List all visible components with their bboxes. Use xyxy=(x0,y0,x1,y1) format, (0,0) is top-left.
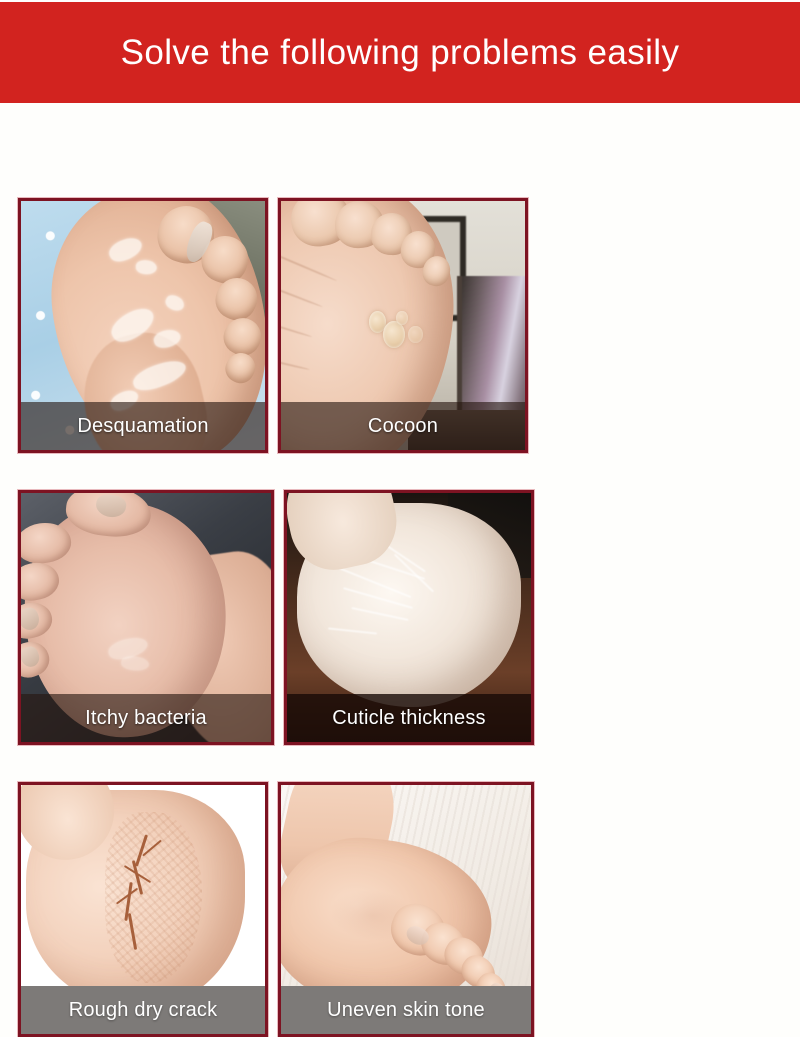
problem-caption-uneven-skin-tone: Uneven skin tone xyxy=(281,986,531,1034)
problem-card-itchy-bacteria[interactable]: Itchy bacteria xyxy=(18,490,274,745)
problem-caption-cocoon: Cocoon xyxy=(281,402,525,450)
problem-card-rough-dry-crack[interactable]: Rough dry crack xyxy=(18,782,268,1037)
problem-card-grid: Desquamation Cocoon xyxy=(18,198,790,1037)
page-title: Solve the following problems easily xyxy=(121,35,680,70)
problem-card-desquamation[interactable]: Desquamation xyxy=(18,198,268,453)
problem-card-uneven-skin-tone[interactable]: Uneven skin tone xyxy=(278,782,534,1037)
problem-caption-desquamation: Desquamation xyxy=(21,402,265,450)
problem-card-cuticle-thickness[interactable]: Cuticle thickness xyxy=(284,490,534,745)
problem-caption-cuticle-thickness: Cuticle thickness xyxy=(287,694,531,742)
problem-card-cocoon[interactable]: Cocoon xyxy=(278,198,528,453)
header-banner: Solve the following problems easily xyxy=(0,2,800,103)
problem-caption-itchy-bacteria: Itchy bacteria xyxy=(21,694,271,742)
problem-caption-rough-dry-crack: Rough dry crack xyxy=(21,986,265,1034)
